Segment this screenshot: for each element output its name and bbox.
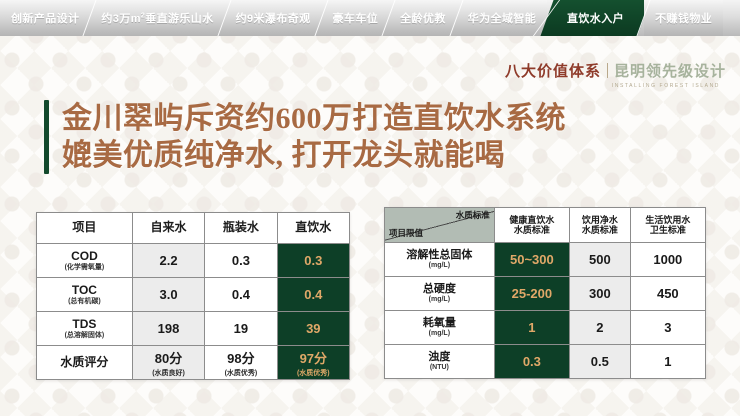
table-row: 水质评分 80分 (水质良好) 98分 (水质优秀) 97分 (水质优秀)	[37, 346, 350, 380]
cell-score-bottled-main: 98分	[227, 351, 254, 366]
water-comparison-table: 项目 自来水 瓶装水 直饮水 COD (化学需氧量) 2.2 0.3 0.3 T…	[36, 212, 350, 380]
cell-hardness-healthy: 25-200	[494, 277, 569, 311]
table-row: TOC (总有机碳) 3.0 0.4 0.4	[37, 278, 350, 312]
brand-block: 八大价值体系 昆明领先级设计 INSTALLING FOREST ISLAND	[505, 60, 726, 89]
row-label-tds-main: TDS	[72, 317, 96, 331]
brand-primary-text: 八大价值体系	[505, 60, 601, 81]
cell-cod-bottled: 0.3	[205, 244, 277, 278]
row-label-tds-solids: 溶解性总固体 (mg/L)	[385, 243, 495, 277]
cell-score-direct: 97分 (水质优秀)	[277, 346, 349, 380]
table-row: COD (化学需氧量) 2.2 0.3 0.3	[37, 244, 350, 278]
nav-label-4: 全龄优教	[400, 10, 446, 26]
row-label-oxygen-unit: (mg/L)	[385, 330, 494, 338]
nav-label-7: 不赚钱物业	[655, 10, 712, 26]
col-header-purified: 饮用净水 水质标准	[570, 208, 631, 243]
cell-turbidity-purified: 0.5	[570, 345, 631, 379]
brand-secondary-text: 昆明领先级设计	[614, 60, 726, 81]
col-header-item: 项目	[37, 213, 133, 244]
nav-item-4[interactable]: 全龄优教	[389, 0, 457, 36]
water-standards-table: 水质标准 项目限值 健康直饮水 水质标准 饮用净水 水质标准 生活饮用水 卫生标…	[384, 207, 706, 379]
cell-solids-purified: 500	[570, 243, 631, 277]
headline-block: 金川翠屿斥资约600万打造直饮水系统 媲美优质纯净水, 打开龙头就能喝	[44, 100, 566, 174]
cell-tds-direct: 39	[277, 312, 349, 346]
row-label-cod: COD (化学需氧量)	[37, 244, 133, 278]
table-row: TDS (总溶解固体) 198 19 39	[37, 312, 350, 346]
col-header-domestic-l1: 生活饮用水	[645, 215, 690, 225]
row-label-tds-solids-unit: (mg/L)	[385, 262, 494, 270]
cell-oxygen-healthy: 1	[494, 311, 569, 345]
col-header-purified-l2: 水质标准	[582, 225, 618, 235]
row-label-toc-sub: (总有机碳)	[37, 298, 132, 306]
col-header-purified-l1: 饮用净水	[582, 215, 618, 225]
nav-label-5: 华为全域智能	[468, 10, 536, 26]
cell-turbidity-domestic: 1	[630, 345, 705, 379]
row-label-cod-sub: (化学需氧量)	[37, 264, 132, 272]
table-row: 浊度 (NTU) 0.3 0.5 1	[385, 345, 706, 379]
cell-tds-tap: 198	[132, 312, 204, 346]
cell-hardness-purified: 300	[570, 277, 631, 311]
nav-item-2[interactable]: 约9米瀑布奇观	[225, 0, 322, 36]
cell-score-tap: 80分 (水质良好)	[132, 346, 204, 380]
col-header-healthy-direct: 健康直饮水 水质标准	[494, 208, 569, 243]
col-header-domestic-l2: 卫生标准	[650, 225, 686, 235]
brand-divider	[607, 63, 608, 78]
headline-accent-bar	[44, 100, 49, 174]
corner-header-cell: 水质标准 项目限值	[385, 208, 495, 243]
row-label-turbidity-unit: (NTU)	[385, 364, 494, 372]
nav-label-3: 豪车车位	[333, 10, 379, 26]
water-standards-table-wrap: 水质标准 项目限值 健康直饮水 水质标准 饮用净水 水质标准 生活饮用水 卫生标…	[384, 207, 706, 379]
page-title: 金川翠屿斥资约600万打造直饮水系统 媲美优质纯净水, 打开龙头就能喝	[62, 100, 566, 174]
row-label-hardness: 总硬度 (mg/L)	[385, 277, 495, 311]
headline-line-2: 媲美优质纯净水, 打开龙头就能喝	[62, 137, 566, 174]
row-label-toc-main: TOC	[72, 283, 97, 297]
nav-item-7[interactable]: 不赚钱物业	[644, 0, 723, 36]
diagonal-split-cell: 水质标准 项目限值	[385, 208, 494, 242]
row-label-hardness-unit: (mg/L)	[385, 296, 494, 304]
table-row: 耗氧量 (mg/L) 1 2 3	[385, 311, 706, 345]
col-header-domestic: 生活饮用水 卫生标准	[630, 208, 705, 243]
cell-oxygen-purified: 2	[570, 311, 631, 345]
top-nav: 创新产品设计 约3万m2垂直游乐山水 约9米瀑布奇观 豪车车位 全龄优教 华为全…	[0, 0, 740, 36]
cell-tds-bottled: 19	[205, 312, 277, 346]
cell-toc-direct: 0.4	[277, 278, 349, 312]
table-header-row: 项目 自来水 瓶装水 直饮水	[37, 213, 350, 244]
col-header-healthy-direct-l1: 健康直饮水	[509, 215, 554, 225]
col-header-bottled-water: 瓶装水	[205, 213, 277, 244]
nav-item-direct-drinking-water[interactable]: 直饮水入户	[541, 0, 651, 36]
brand-row: 八大价值体系 昆明领先级设计	[505, 60, 726, 81]
cell-toc-tap: 3.0	[132, 278, 204, 312]
table-row: 总硬度 (mg/L) 25-200 300 450	[385, 277, 706, 311]
row-label-oxygen: 耗氧量 (mg/L)	[385, 311, 495, 345]
row-label-hardness-main: 总硬度	[423, 283, 456, 295]
cell-cod-tap: 2.2	[132, 244, 204, 278]
row-label-toc: TOC (总有机碳)	[37, 278, 133, 312]
row-label-turbidity-main: 浊度	[428, 351, 450, 363]
brand-english-subtitle: INSTALLING FOREST ISLAND	[612, 83, 720, 89]
nav-item-0[interactable]: 创新产品设计	[0, 0, 90, 36]
cell-solids-healthy: 50~300	[494, 243, 569, 277]
cell-toc-bottled: 0.4	[205, 278, 277, 312]
nav-label-2: 约9米瀑布奇观	[236, 10, 311, 26]
row-label-tds-solids-main: 溶解性总固体	[406, 249, 472, 261]
row-label-score: 水质评分	[37, 346, 133, 380]
col-header-direct-drinking-water: 直饮水	[277, 213, 349, 244]
row-label-cod-main: COD	[71, 249, 98, 263]
row-label-tds: TDS (总溶解固体)	[37, 312, 133, 346]
corner-label-limit: 项目限值	[389, 229, 423, 239]
table-row: 溶解性总固体 (mg/L) 50~300 500 1000	[385, 243, 706, 277]
nav-item-1[interactable]: 约3万m2垂直游乐山水	[90, 0, 224, 36]
cell-solids-domestic: 1000	[630, 243, 705, 277]
slide-canvas: 创新产品设计 约3万m2垂直游乐山水 约9米瀑布奇观 豪车车位 全龄优教 华为全…	[0, 0, 740, 416]
col-header-healthy-direct-l2: 水质标准	[514, 225, 550, 235]
cell-score-tap-sub: (水质良好)	[133, 368, 204, 378]
cell-score-direct-main: 97分	[300, 351, 327, 366]
cell-hardness-domestic: 450	[630, 277, 705, 311]
col-header-tap-water: 自来水	[132, 213, 204, 244]
cell-score-bottled: 98分 (水质优秀)	[205, 346, 277, 380]
row-label-turbidity: 浊度 (NTU)	[385, 345, 495, 379]
row-label-tds-sub: (总溶解固体)	[37, 332, 132, 340]
nav-label-1: 约3万m2垂直游乐山水	[101, 10, 213, 26]
cell-score-direct-sub: (水质优秀)	[278, 368, 349, 378]
water-comparison-table-wrap: 项目 自来水 瓶装水 直饮水 COD (化学需氧量) 2.2 0.3 0.3 T…	[36, 212, 350, 380]
table-header-row: 水质标准 项目限值 健康直饮水 水质标准 饮用净水 水质标准 生活饮用水 卫生标…	[385, 208, 706, 243]
row-label-oxygen-main: 耗氧量	[423, 317, 456, 329]
nav-item-3[interactable]: 豪车车位	[322, 0, 390, 36]
cell-turbidity-healthy: 0.3	[494, 345, 569, 379]
nav-label-6: 直饮水入户	[567, 10, 624, 26]
nav-label-0: 创新产品设计	[11, 10, 79, 26]
cell-score-tap-main: 80分	[155, 351, 182, 366]
headline-line-1: 金川翠屿斥资约600万打造直饮水系统	[62, 102, 566, 135]
cell-cod-direct: 0.3	[277, 244, 349, 278]
cell-oxygen-domestic: 3	[630, 311, 705, 345]
corner-label-standard: 水质标准	[456, 211, 490, 221]
nav-item-5[interactable]: 华为全域智能	[457, 0, 547, 36]
cell-score-bottled-sub: (水质优秀)	[205, 368, 276, 378]
